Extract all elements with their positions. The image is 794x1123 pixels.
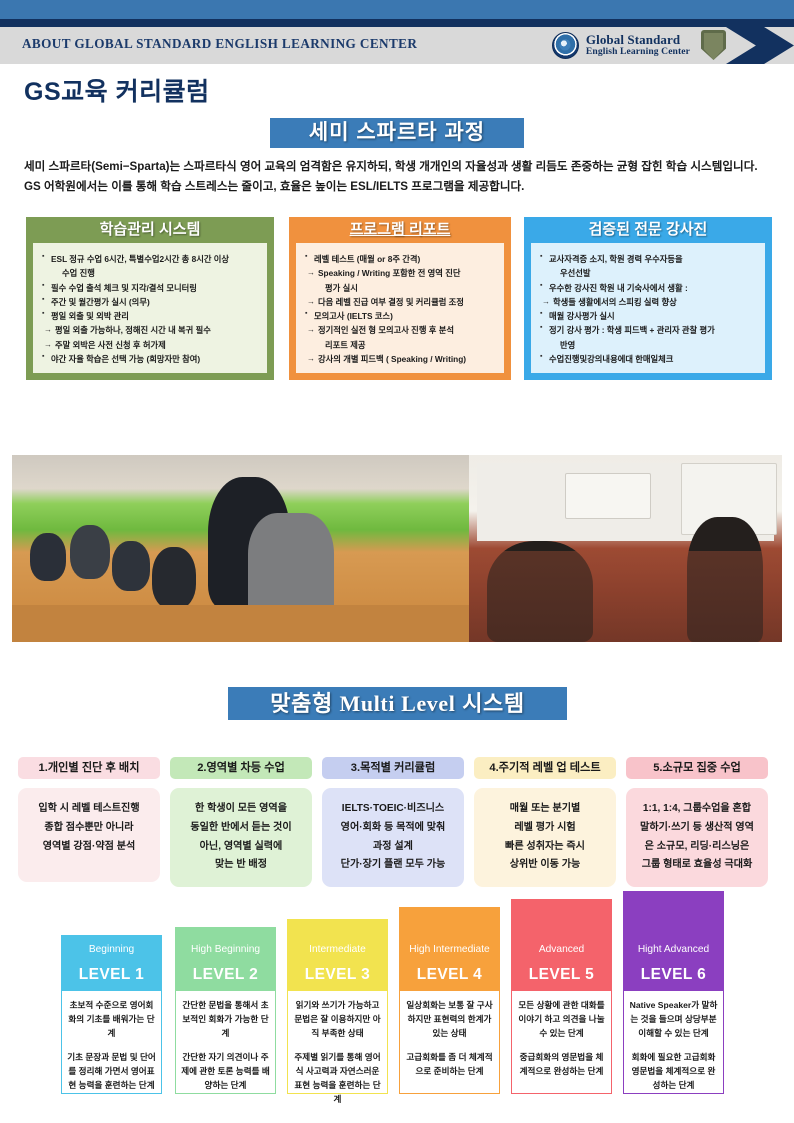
five-column-row: 1.개인별 진단 후 배치입학 시 레벨 테스트진행종합 점수뿐만 아니라영역별… [18, 757, 776, 887]
brand-logo-group: Global Standard English Learning Center [552, 30, 726, 60]
brand-subtitle: English Learning Center [586, 47, 690, 57]
feature-column-line: 빠른 성취자는 즉시 [479, 838, 611, 857]
level-card-body: 읽기와 쓰기가 가능하고 문법은 잘 이용하지만 아직 부족한 상태주제별 읽기… [287, 991, 388, 1094]
feature-column-body: 1:1, 1:4, 그룹수업을 혼합말하기·쓰기 등 생산적 영역은 소규모, … [626, 788, 768, 887]
level-name: Hight Advanced [638, 944, 709, 957]
level-name: Intermediate [309, 944, 366, 957]
level-number: LEVEL 5 [529, 966, 594, 984]
feature-column-line: 단가·장기 플랜 모두 가능 [327, 856, 459, 875]
level-number: LEVEL 2 [193, 966, 258, 984]
feature-column-line: 동일한 반에서 듣는 것이 [175, 819, 307, 838]
level-card-body: Native Speaker가 말하는 것을 들으며 상당부분 이해할 수 있는… [623, 991, 724, 1094]
feature-column-body: 한 학생이 모든 영역을동일한 반에서 듣는 것이아닌, 영역별 실력에맞는 반… [170, 788, 312, 887]
feature-column-line: 입학 시 레벨 테스트진행 [23, 800, 155, 819]
multi-level-en: Multi Level [340, 691, 456, 716]
level-name: High Intermediate [409, 944, 489, 957]
feature-column-2: 2.영역별 차등 수업한 학생이 모든 영역을동일한 반에서 듣는 것이아닌, … [170, 757, 312, 887]
multi-level-prefix: 맞춤형 [270, 691, 339, 716]
multi-level-suffix: 시스템 [455, 691, 524, 716]
level-card-5: AdvancedLEVEL 5모든 상황에 관한 대화를 이야기 하고 의견을 … [511, 899, 612, 1094]
feature-column-1: 1.개인별 진단 후 배치입학 시 레벨 테스트진행종합 점수뿐만 아니라영역별… [18, 757, 160, 887]
level-description: 회화에 필요한 고급회화 영문법을 체계적으로 완성하는 단계 [629, 1051, 718, 1093]
feature-list-item: 정기 강사 평가 : 학생 피드백 + 관리자 관찰 평가 [540, 323, 758, 337]
feature-list: ESL 정규 수업 6시간, 특별수업2시간 총 8시간 이상수업 진행필수 수… [42, 252, 260, 366]
feature-list-item: 필수 수업 출석 체크 및 지각/결석 모니터링 [42, 281, 260, 295]
level-description: 고급회화를 좀 더 체계적으로 준비하는 단계 [405, 1051, 494, 1079]
feature-box-title: 학습관리 시스템 [26, 217, 274, 243]
level-description: 읽기와 쓰기가 가능하고 문법은 잘 이용하지만 아직 부족한 상태 [293, 999, 382, 1041]
photo-strip [12, 455, 782, 642]
feature-list-item: 다음 레벨 진급 여부 결정 및 커리큘럼 조정 [305, 295, 497, 309]
level-description: Native Speaker가 말하는 것을 들으며 상당부분 이해할 수 있는… [629, 999, 718, 1041]
level-card-header: Hight AdvancedLEVEL 6 [623, 891, 724, 991]
feature-column-body: 매월 또는 분기별레벨 평가 시험빠른 성취자는 즉시상위반 이동 가능 [474, 788, 616, 887]
feature-list-item: 정기적인 실전 형 모의고사 진행 후 분석 [305, 323, 497, 337]
level-card-body: 초보적 수준으로 영어회화의 기초를 배워가는 단계기초 문장과 문법 및 단어… [61, 991, 162, 1094]
feature-column-line: 한 학생이 모든 영역을 [175, 800, 307, 819]
semi-sparta-paragraph: 세미 스파르타(Semi−Sparta)는 스파르타식 영어 교육의 엄격함은 … [24, 157, 772, 198]
level-description: 모든 상황에 관한 대화를 이야기 하고 의견을 나눌 수 있는 단계 [517, 999, 606, 1041]
feature-box-body: 레벨 테스트 (매월 or 8주 간격)Speaking / Writing 포… [296, 243, 504, 373]
level-card-header: IntermediateLEVEL 3 [287, 919, 388, 991]
level-card-body: 모든 상황에 관한 대화를 이야기 하고 의견을 나눌 수 있는 단계중급회화의… [511, 991, 612, 1094]
feature-box-body: ESL 정규 수업 6시간, 특별수업2시간 총 8시간 이상수업 진행필수 수… [33, 243, 267, 373]
section-title-semi-sparta: 세미 스파르타 과정 [270, 118, 524, 148]
level-staircase: BeginningLEVEL 1초보적 수준으로 영어회화의 기초를 배워가는 … [0, 900, 794, 1110]
feature-list-item: 평일 외출 및 외박 관리 [42, 309, 260, 323]
consultation-photo [469, 455, 782, 642]
feature-list-item: 수업 진행 [42, 266, 260, 280]
feature-column-line: 매월 또는 분기별 [479, 800, 611, 819]
feature-column-body: 입학 시 레벨 테스트진행종합 점수뿐만 아니라영역별 강점·약점 분석 [18, 788, 160, 882]
feature-column-header: 2.영역별 차등 수업 [170, 757, 312, 779]
level-number: LEVEL 4 [417, 966, 482, 984]
feature-list-item: 반영 [540, 338, 758, 352]
feature-column-line: IELTS·TOEIC·비즈니스 [327, 800, 459, 819]
feature-column-4: 4.주기적 레벨 업 테스트매월 또는 분기별레벨 평가 시험빠른 성취자는 즉… [474, 757, 616, 887]
level-number: LEVEL 1 [79, 966, 144, 984]
feature-column-line: 그룹 형태로 효율성 극대화 [631, 856, 763, 875]
feature-list-item: 강사의 개별 피드백 ( Speaking / Writing) [305, 352, 497, 366]
feature-column-5: 5.소규모 집중 수업1:1, 1:4, 그룹수업을 혼합말하기·쓰기 등 생산… [626, 757, 768, 887]
feature-list-item: 레벨 테스트 (매월 or 8주 간격) [305, 252, 497, 266]
feature-list-item: 평가 실시 [305, 281, 497, 295]
globe-seal-icon [552, 32, 579, 59]
feature-column-3: 3.목적별 커리큘럼IELTS·TOEIC·비즈니스영어·회화 등 목적에 맞춰… [322, 757, 464, 887]
feature-box-learning-management: 학습관리 시스템 ESL 정규 수업 6시간, 특별수업2시간 총 8시간 이상… [26, 217, 274, 380]
level-card-body: 일상회화는 보통 잘 구사하지만 표현력의 한계가 있는 상태고급회화를 좀 더… [399, 991, 500, 1094]
level-description: 기초 문장과 문법 및 단어를 정리해 가면서 영어표현 능력을 훈련하는 단계 [67, 1051, 156, 1093]
feature-column-line: 영어·회화 등 목적에 맞춰 [327, 819, 459, 838]
page-title: GS교육 커리큘럼 [24, 72, 210, 108]
feature-list-item: 우선선발 [540, 266, 758, 280]
level-card-header: BeginningLEVEL 1 [61, 935, 162, 991]
level-card-4: High IntermediateLEVEL 4일상회화는 보통 잘 구사하지만… [399, 907, 500, 1094]
feature-list-item: 모의고사 (IELTS 코스) [305, 309, 497, 323]
feature-column-header: 5.소규모 집중 수업 [626, 757, 768, 779]
feature-list-item: 학생들 생활에서의 스피킹 실력 향상 [540, 295, 758, 309]
feature-list-item: 주말 외박은 사전 신청 후 허가제 [42, 338, 260, 352]
classroom-photo [12, 455, 469, 642]
feature-list-item: 매월 강사평가 실시 [540, 309, 758, 323]
level-card-2: High BeginningLEVEL 2간단한 문법을 통해서 초보적인 회화… [175, 927, 276, 1094]
feature-list-item: 리포트 제공 [305, 338, 497, 352]
feature-list-item: Speaking / Writing 포함한 전 영역 진단 [305, 266, 497, 280]
feature-column-header: 3.목적별 커리큘럼 [322, 757, 464, 779]
feature-box-title: 프로그램 리포트 [289, 217, 511, 243]
feature-list-item: 교사자격증 소지, 학원 경력 우수자등을 [540, 252, 758, 266]
header-title: ABOUT GLOBAL STANDARD ENGLISH LEARNING C… [22, 36, 417, 52]
feature-box-title: 검증된 전문 강사진 [524, 217, 772, 243]
feature-column-line: 영역별 강점·약점 분석 [23, 838, 155, 857]
level-name: Beginning [89, 944, 134, 957]
feature-column-line: 아닌, 영역별 실력에 [175, 838, 307, 857]
top-accent-bar [0, 0, 794, 19]
level-number: LEVEL 3 [305, 966, 370, 984]
level-description: 주제별 읽기를 통해 영어식 사고력과 자연스러운 표현 능력을 훈련하는 단계 [293, 1051, 382, 1107]
feature-list-item: 수업진행및강의내용에대 한매일체크 [540, 352, 758, 366]
level-description: 중급회화의 영문법을 체계적으로 완성하는 단계 [517, 1051, 606, 1079]
level-card-1: BeginningLEVEL 1초보적 수준으로 영어회화의 기초를 배워가는 … [61, 935, 162, 1094]
level-card-6: Hight AdvancedLEVEL 6Native Speaker가 말하는… [623, 891, 724, 1094]
feature-column-header: 1.개인별 진단 후 배치 [18, 757, 160, 779]
feature-box-program-report: 프로그램 리포트 레벨 테스트 (매월 or 8주 간격)Speaking / … [289, 217, 511, 380]
level-description: 일상회화는 보통 잘 구사하지만 표현력의 한계가 있는 상태 [405, 999, 494, 1041]
level-card-3: IntermediateLEVEL 3읽기와 쓰기가 가능하고 문법은 잘 이용… [287, 919, 388, 1094]
feature-column-line: 맞는 반 배정 [175, 856, 307, 875]
level-number: LEVEL 6 [641, 966, 706, 984]
brochure-page: ABOUT GLOBAL STANDARD ENGLISH LEARNING C… [0, 0, 794, 1123]
level-card-body: 간단한 문법을 통해서 초보적인 회화가 가능한 단계간단한 자기 의견이나 주… [175, 991, 276, 1094]
top-navy-strip [0, 19, 794, 27]
feature-box-body: 교사자격증 소지, 학원 경력 우수자등을우선선발우수한 강사진 학원 내 기숙… [531, 243, 765, 373]
feature-column-line: 상위반 이동 가능 [479, 856, 611, 875]
feature-column-line: 말하기·쓰기 등 생산적 영역 [631, 819, 763, 838]
feature-column-line: 종합 점수뿐만 아니라 [23, 819, 155, 838]
feature-list-item: 우수한 강사진 학원 내 기숙사에서 생활 : [540, 281, 758, 295]
feature-column-line: 과정 설계 [327, 838, 459, 857]
feature-list-item: 주간 및 월간평가 실시 (의무) [42, 295, 260, 309]
level-card-header: High IntermediateLEVEL 4 [399, 907, 500, 991]
shield-icon [701, 30, 726, 60]
level-description: 초보적 수준으로 영어회화의 기초를 배워가는 단계 [67, 999, 156, 1041]
feature-list-item: ESL 정규 수업 6시간, 특별수업2시간 총 8시간 이상 [42, 252, 260, 266]
brand-name: Global Standard [586, 33, 690, 47]
feature-column-line: 레벨 평가 시험 [479, 819, 611, 838]
feature-box-frame: 레벨 테스트 (매월 or 8주 간격)Speaking / Writing 포… [289, 243, 511, 380]
level-description: 간단한 자기 의견이나 주제에 관한 토론 능력를 배양하는 단계 [181, 1051, 270, 1093]
feature-list: 교사자격증 소지, 학원 경력 우수자등을우선선발우수한 강사진 학원 내 기숙… [540, 252, 758, 366]
feature-column-header: 4.주기적 레벨 업 테스트 [474, 757, 616, 779]
feature-box-frame: ESL 정규 수업 6시간, 특별수업2시간 총 8시간 이상수업 진행필수 수… [26, 243, 274, 380]
feature-box-frame: 교사자격증 소지, 학원 경력 우수자등을우선선발우수한 강사진 학원 내 기숙… [524, 243, 772, 380]
level-name: High Beginning [191, 944, 260, 957]
feature-list-item: 야간 자율 학습은 선택 가능 (희망자만 참여) [42, 352, 260, 366]
feature-column-line: 1:1, 1:4, 그룹수업을 혼합 [631, 800, 763, 819]
level-description: 간단한 문법을 통해서 초보적인 회화가 가능한 단계 [181, 999, 270, 1041]
feature-list-item: 평일 외출 가능하나, 정해진 시간 내 복귀 필수 [42, 323, 260, 337]
section-title-multi-level: 맞춤형 Multi Level 시스템 [228, 687, 567, 720]
feature-list: 레벨 테스트 (매월 or 8주 간격)Speaking / Writing 포… [305, 252, 497, 366]
level-card-header: AdvancedLEVEL 5 [511, 899, 612, 991]
feature-column-line: 은 소규모, 리딩·리스닝은 [631, 838, 763, 857]
level-card-header: High BeginningLEVEL 2 [175, 927, 276, 991]
feature-box-certified-teachers: 검증된 전문 강사진 교사자격증 소지, 학원 경력 우수자등을우선선발우수한 … [524, 217, 772, 380]
feature-column-body: IELTS·TOEIC·비즈니스영어·회화 등 목적에 맞춰과정 설계단가·장기… [322, 788, 464, 887]
level-name: Advanced [539, 944, 584, 957]
brand-text: Global Standard English Learning Center [586, 33, 690, 57]
